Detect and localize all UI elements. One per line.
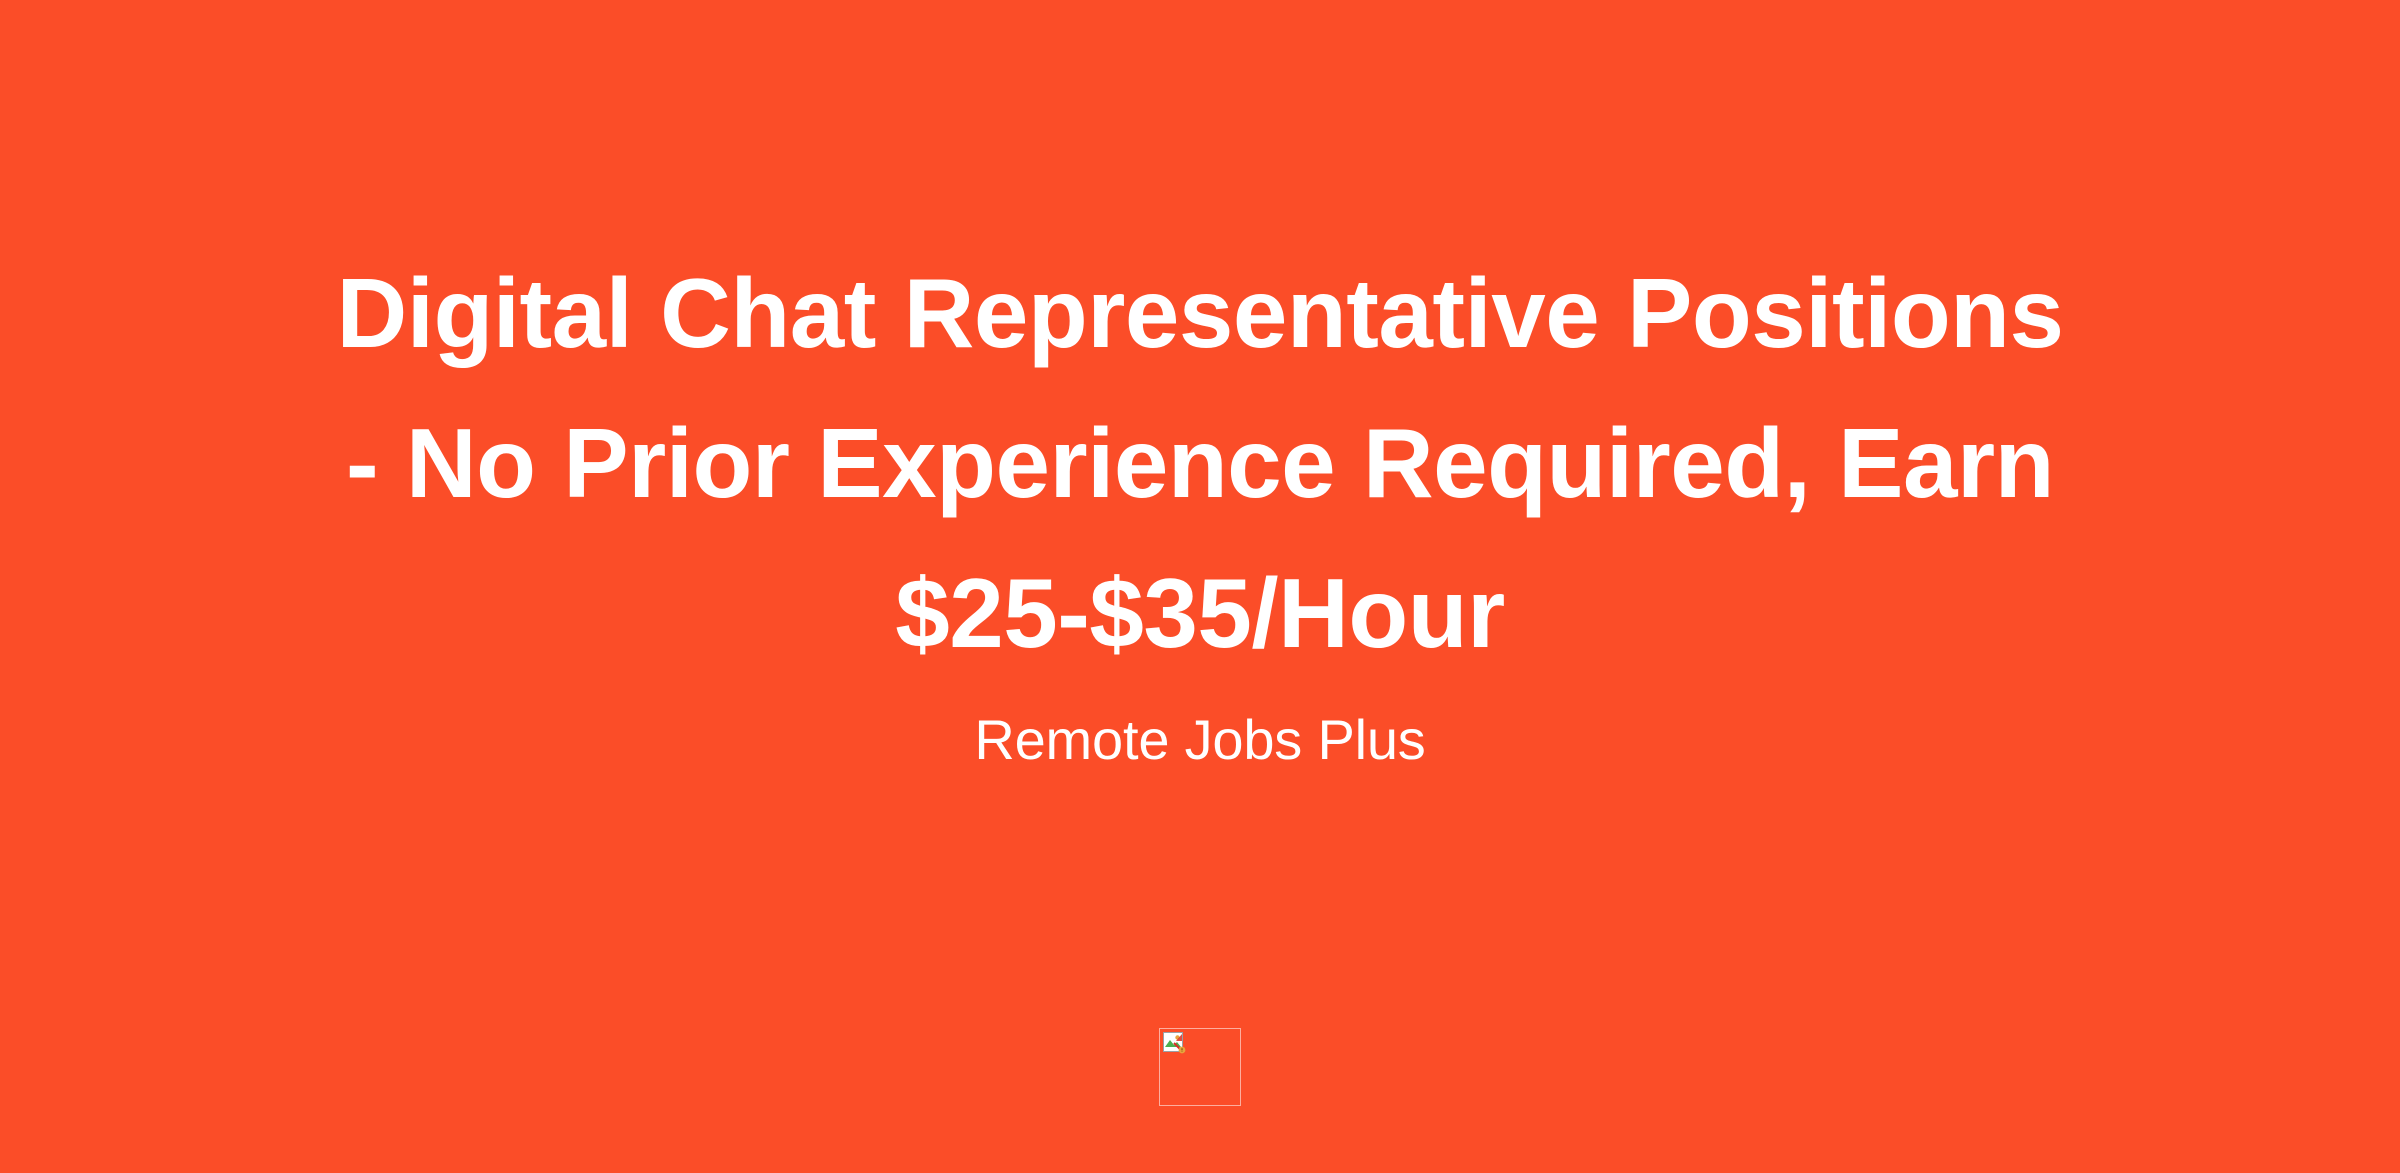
media-slot <box>0 1028 2400 1106</box>
page-root: Digital Chat Representative Positions - … <box>0 0 2400 1173</box>
page-title: Digital Chat Representative Positions - … <box>320 238 2080 688</box>
broken-image-placeholder <box>1159 1028 1241 1106</box>
broken-image-icon <box>1163 1032 1187 1054</box>
hero-section: Digital Chat Representative Positions - … <box>0 0 2400 774</box>
page-subtitle: Remote Jobs Plus <box>320 706 2080 774</box>
